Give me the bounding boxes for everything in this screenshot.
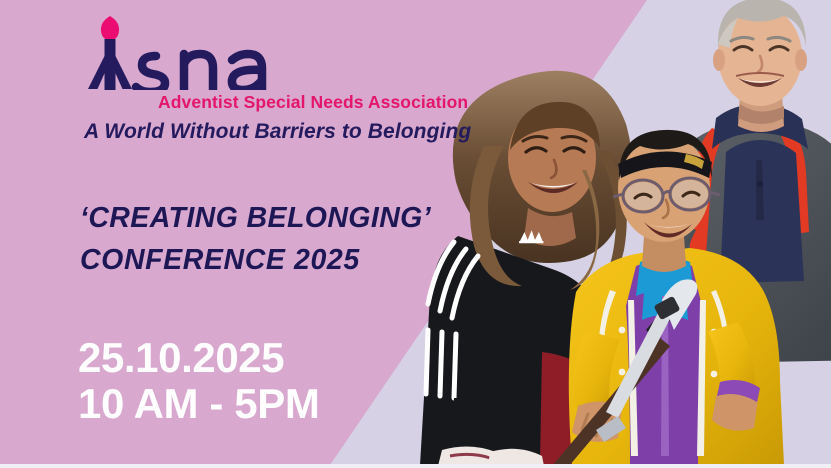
logo-subtitle: Adventist Special Needs Association bbox=[158, 94, 468, 112]
tagline: A World Without Barriers to Belonging bbox=[84, 120, 471, 144]
asna-wordmark bbox=[86, 12, 336, 90]
conference-banner: Adventist Special Needs Association A Wo… bbox=[0, 0, 831, 468]
legs-and-shoes bbox=[438, 398, 544, 465]
page-title: ‘CREATING BELONGING’ CONFERENCE 2025 bbox=[80, 198, 431, 281]
bottom-strip bbox=[0, 464, 831, 468]
headline-line-1: ‘CREATING BELONGING’ bbox=[80, 198, 431, 240]
headline-line-2: CONFERENCE 2025 bbox=[80, 240, 431, 282]
event-time: 10 AM - 5PM bbox=[78, 381, 319, 427]
group-photo bbox=[400, 0, 831, 465]
event-datetime: 25.10.2025 10 AM - 5PM bbox=[78, 335, 319, 427]
asna-logo: Adventist Special Needs Association bbox=[86, 12, 436, 108]
event-date: 25.10.2025 bbox=[78, 335, 319, 381]
